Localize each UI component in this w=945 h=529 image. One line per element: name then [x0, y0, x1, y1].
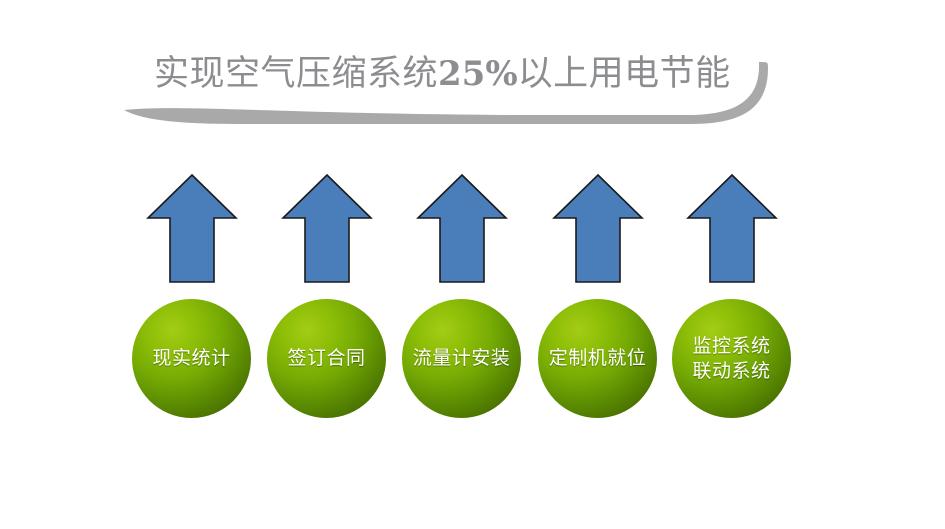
step-circle-5[interactable]: 监控系统 联动系统 [672, 299, 791, 418]
step-label-3: 流量计安装 [409, 346, 515, 371]
process-step-2[interactable]: 签订合同 [257, 170, 397, 425]
title-part-before: 实现空气压缩系统 [154, 54, 438, 94]
arrow-path [688, 175, 776, 282]
process-step-5[interactable]: 监控系统 联动系统 [662, 170, 802, 425]
title-banner: 实现空气压缩系统25%以上用电节能 [118, 38, 778, 128]
arrow-path [418, 175, 506, 282]
process-step-1[interactable]: 现实统计 [122, 170, 262, 425]
title-percent: 25% [438, 54, 518, 94]
up-arrow-icon-1 [122, 170, 262, 288]
title-part-after: 以上用电节能 [518, 54, 731, 94]
process-step-3[interactable]: 流量计安装 [392, 170, 532, 425]
up-arrow-icon-2 [257, 170, 397, 288]
step-label-5: 监控系统 联动系统 [688, 334, 774, 384]
step-circle-1[interactable]: 现实统计 [132, 299, 251, 418]
step-circle-2[interactable]: 签订合同 [267, 299, 386, 418]
page-title: 实现空气压缩系统25%以上用电节能 [154, 46, 724, 102]
arrow-path [554, 175, 642, 282]
step-label-2: 签订合同 [283, 346, 369, 371]
arrow-path [148, 175, 236, 282]
step-label-4: 定制机就位 [545, 346, 651, 371]
up-arrow-icon-5 [662, 170, 802, 288]
slide-canvas: 实现空气压缩系统25%以上用电节能 现实统计 签订合同 [0, 0, 945, 529]
up-arrow-icon-4 [528, 170, 668, 288]
step-circle-3[interactable]: 流量计安装 [402, 299, 521, 418]
up-arrow-icon-3 [392, 170, 532, 288]
arrow-path [283, 175, 371, 282]
step-label-1: 现实统计 [148, 346, 234, 371]
step-circle-4[interactable]: 定制机就位 [538, 299, 657, 418]
process-step-4[interactable]: 定制机就位 [528, 170, 668, 425]
